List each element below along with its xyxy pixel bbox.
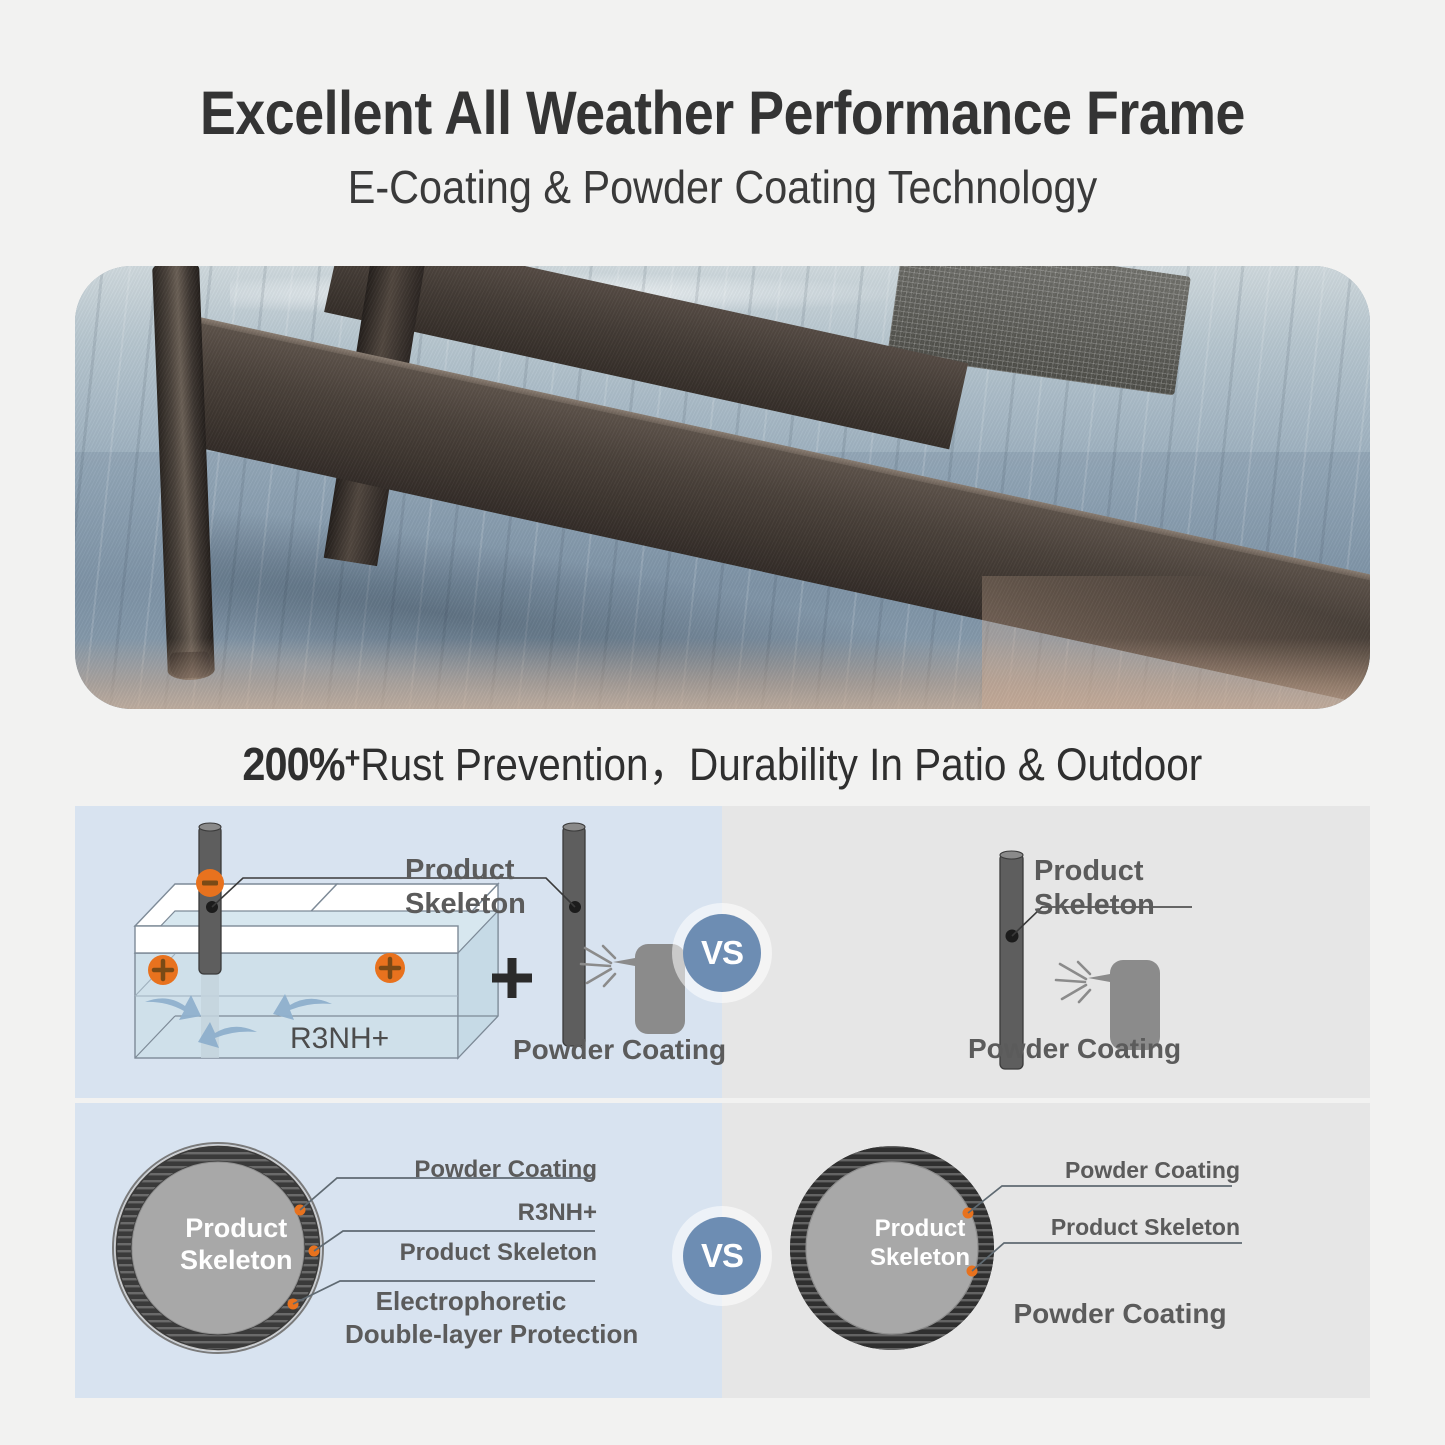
ecoat-caption: Electrophoretic Double-layer Protection — [345, 1285, 597, 1352]
page-title: Excellent All Weather Performance Frame — [87, 78, 1359, 148]
ecoat-powder-coating-label: Powder Coating — [513, 1034, 726, 1067]
powder-callout-product-skeleton: Product Skeleton — [1000, 1214, 1240, 1241]
photo-grain — [75, 266, 1370, 709]
tagline-plus: + — [345, 742, 361, 775]
tagline-percent: 200% — [243, 738, 345, 790]
hero-photo — [75, 266, 1370, 709]
ecoat-callout-product-skeleton: Product Skeleton — [345, 1239, 597, 1267]
tagline: 200%+Rust Prevention，Durability In Patio… — [0, 728, 1445, 793]
powder-only-coating-label: Powder Coating — [968, 1033, 1181, 1066]
infographic-page: Excellent All Weather Performance Frame … — [0, 0, 1445, 1445]
tagline-rest: Rust Prevention，Durability In Patio & Ou… — [361, 739, 1203, 790]
vs-badge-process: VS — [683, 914, 761, 992]
ecoat-callout-powder-coating: Powder Coating — [345, 1156, 597, 1184]
page-subtitle: E-Coating & Powder Coating Technology — [72, 160, 1373, 214]
powder-core-label: Product Skeleton — [870, 1215, 970, 1273]
ecoat-callout-r3nh: R3NH+ — [345, 1199, 597, 1227]
powder-cross-section-diagram — [722, 1103, 1370, 1398]
ecoat-solution-label: R3NH+ — [290, 1021, 389, 1056]
powder-callout-powder-coating: Powder Coating — [1000, 1157, 1240, 1184]
powder-only-skeleton-label: Product Skeleton — [1034, 855, 1155, 923]
ecoat-skeleton-label: Product Skeleton — [405, 854, 526, 922]
powder-caption: Powder Coating — [1000, 1298, 1240, 1331]
vs-badge-cross-section: VS — [683, 1217, 761, 1295]
ecoat-core-label: Product Skeleton — [180, 1212, 293, 1277]
